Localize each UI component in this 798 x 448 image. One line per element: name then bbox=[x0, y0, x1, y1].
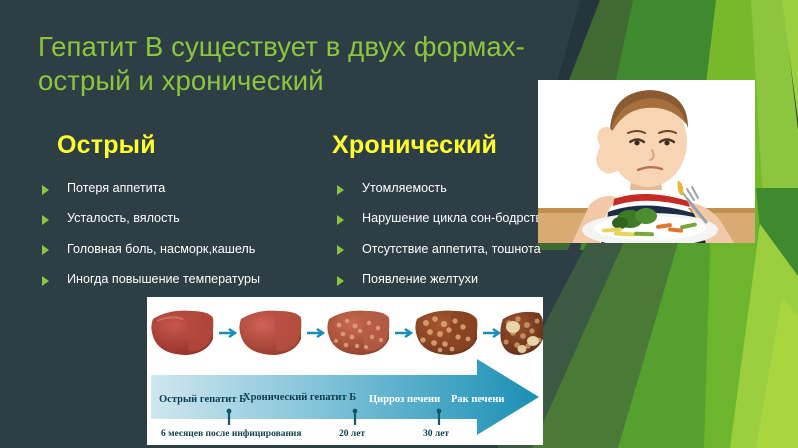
liver-progression-diagram: Острый гепатит Б Хронический гепатит Б Ц… bbox=[147, 297, 543, 445]
stage-label-0: Острый гепатит Б bbox=[159, 394, 246, 405]
stage-label-1: Хронический гепатит Б bbox=[243, 392, 356, 403]
timeline-label-0: 6 месяцев после инфицирования bbox=[161, 428, 302, 439]
list-item-label: Потеря аппетита bbox=[67, 181, 165, 195]
column-heading-acute: Острый bbox=[57, 131, 156, 160]
triangle-bullet-icon bbox=[42, 245, 49, 255]
triangle-bullet-icon bbox=[42, 276, 49, 286]
list-item: Потеря аппетита bbox=[38, 181, 338, 197]
triangle-bullet-icon bbox=[337, 245, 344, 255]
triangle-bullet-icon bbox=[42, 185, 49, 195]
list-item-label: Отсутствие аппетита, тошнота bbox=[362, 242, 541, 256]
timeline-label-1: 20 лет bbox=[339, 429, 365, 439]
bullet-list-acute: Потеря аппетита Усталость, вялость Голов… bbox=[38, 181, 338, 302]
triangle-bullet-icon bbox=[42, 215, 49, 225]
slide-canvas: Гепатит В существует в двух формах-остры… bbox=[0, 0, 798, 448]
boy-no-appetite-photo bbox=[538, 80, 755, 243]
triangle-bullet-icon bbox=[337, 215, 344, 225]
stage-label-3: Рак печени bbox=[451, 394, 504, 405]
list-item-label: Головная боль, насморк,кашель bbox=[67, 242, 255, 256]
list-item: Усталость, вялость bbox=[38, 211, 338, 227]
column-heading-chronic: Хронический bbox=[332, 131, 497, 160]
triangle-bullet-icon bbox=[337, 276, 344, 286]
list-item-label: Иногда повышение температуры bbox=[67, 272, 260, 286]
list-item: Появление желтухи bbox=[333, 272, 588, 288]
triangle-bullet-icon bbox=[337, 185, 344, 195]
list-item-label: Появление желтухи bbox=[362, 272, 478, 286]
list-item-label: Усталость, вялость bbox=[67, 211, 180, 225]
list-item: Иногда повышение температуры bbox=[38, 272, 338, 288]
timeline-label-2: 30 лет bbox=[423, 429, 449, 439]
list-item-label: Утомляемость bbox=[362, 181, 447, 195]
slide-title: Гепатит В существует в двух формах-остры… bbox=[38, 30, 558, 97]
list-item: Отсутствие аппетита, тошнота bbox=[333, 242, 588, 258]
list-item: Головная боль, насморк,кашель bbox=[38, 242, 338, 258]
stage-label-2: Цирроз печени bbox=[369, 394, 440, 405]
